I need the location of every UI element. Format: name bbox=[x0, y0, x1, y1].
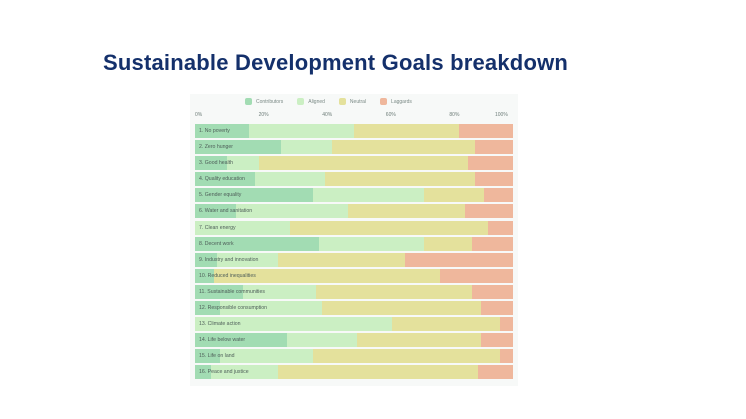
bar-segment-neutral[interactable] bbox=[278, 365, 478, 379]
legend-swatch-icon bbox=[339, 98, 346, 105]
legend-swatch-icon bbox=[245, 98, 252, 105]
axis-tick-40pct: 40% bbox=[322, 112, 332, 118]
bar-row[interactable]: 2. Zero hunger bbox=[195, 140, 513, 154]
bar-segment-aligned[interactable] bbox=[220, 349, 312, 363]
bar-segment-laggards[interactable] bbox=[472, 237, 513, 251]
bar-segment-neutral[interactable] bbox=[290, 221, 487, 235]
bar-segment-laggards[interactable] bbox=[440, 269, 513, 283]
legend-item-aligned[interactable]: Aligned bbox=[297, 98, 325, 105]
bar-segment-aligned[interactable] bbox=[249, 124, 354, 138]
bar-segment-neutral[interactable] bbox=[348, 204, 466, 218]
bar-segment-contributors[interactable] bbox=[195, 285, 243, 299]
bar-segment-neutral[interactable] bbox=[354, 124, 459, 138]
bar-segment-contributors[interactable] bbox=[195, 269, 214, 283]
legend-swatch-icon bbox=[297, 98, 304, 105]
bar-segment-laggards[interactable] bbox=[488, 221, 513, 235]
bar-segment-laggards[interactable] bbox=[475, 140, 513, 154]
slide-canvas: Sustainable Development Goals breakdown … bbox=[0, 0, 746, 419]
legend-swatch-icon bbox=[380, 98, 387, 105]
bar-segment-aligned[interactable] bbox=[217, 253, 277, 267]
bar-segment-neutral[interactable] bbox=[214, 269, 440, 283]
bar-segment-laggards[interactable] bbox=[478, 365, 513, 379]
bar-segment-laggards[interactable] bbox=[468, 156, 513, 170]
bar-segment-contributors[interactable] bbox=[195, 237, 319, 251]
bar-segment-neutral[interactable] bbox=[259, 156, 469, 170]
bar-segment-contributors[interactable] bbox=[195, 124, 249, 138]
bar-row[interactable]: 8. Decent work bbox=[195, 237, 513, 251]
bar-segment-neutral[interactable] bbox=[332, 140, 475, 154]
bar-row[interactable]: 1. No poverty bbox=[195, 124, 513, 138]
bar-row[interactable]: 14. Life below water bbox=[195, 333, 513, 347]
bar-segment-aligned[interactable] bbox=[211, 365, 278, 379]
bar-row[interactable]: 3. Good health bbox=[195, 156, 513, 170]
axis-tick-20pct: 20% bbox=[259, 112, 269, 118]
bar-segment-neutral[interactable] bbox=[313, 349, 501, 363]
bar-segment-aligned[interactable] bbox=[287, 333, 357, 347]
bar-segment-aligned[interactable] bbox=[236, 204, 347, 218]
bar-segment-neutral[interactable] bbox=[424, 237, 472, 251]
bar-segment-contributors[interactable] bbox=[195, 333, 287, 347]
legend-label: Neutral bbox=[350, 99, 366, 105]
bar-segment-neutral[interactable] bbox=[424, 188, 484, 202]
bar-segment-aligned[interactable] bbox=[319, 237, 424, 251]
bar-segment-aligned[interactable] bbox=[227, 156, 259, 170]
bar-segment-laggards[interactable] bbox=[405, 253, 513, 267]
bar-segment-aligned[interactable] bbox=[220, 301, 322, 315]
bar-segment-neutral[interactable] bbox=[278, 253, 405, 267]
bar-segment-laggards[interactable] bbox=[481, 301, 513, 315]
axis-tick-0pct: 0% bbox=[195, 112, 202, 118]
bar-segment-laggards[interactable] bbox=[465, 204, 513, 218]
axis-tick-80pct: 80% bbox=[449, 112, 459, 118]
bar-segment-aligned[interactable] bbox=[195, 317, 392, 331]
x-axis: 0%20%40%60%80%100% bbox=[195, 112, 513, 122]
bar-row[interactable]: 11. Sustainable communities bbox=[195, 285, 513, 299]
bar-row[interactable]: 12. Responsible consumption bbox=[195, 301, 513, 315]
bar-row[interactable]: 7. Clean energy bbox=[195, 221, 513, 235]
bar-segment-contributors[interactable] bbox=[195, 301, 220, 315]
bar-segment-laggards[interactable] bbox=[481, 333, 513, 347]
bar-segment-laggards[interactable] bbox=[475, 172, 513, 186]
bar-row[interactable]: 5. Gender equality bbox=[195, 188, 513, 202]
bar-segment-laggards[interactable] bbox=[500, 349, 513, 363]
chart-legend: ContributorsAlignedNeutralLaggards bbox=[245, 98, 412, 105]
axis-tick-60pct: 60% bbox=[386, 112, 396, 118]
legend-label: Aligned bbox=[308, 99, 325, 105]
bar-segment-aligned[interactable] bbox=[195, 221, 290, 235]
bar-row[interactable]: 4. Quality education bbox=[195, 172, 513, 186]
bar-segment-neutral[interactable] bbox=[357, 333, 481, 347]
bar-segment-neutral[interactable] bbox=[392, 317, 500, 331]
legend-item-neutral[interactable]: Neutral bbox=[339, 98, 366, 105]
legend-item-laggards[interactable]: Laggards bbox=[380, 98, 412, 105]
bar-segment-laggards[interactable] bbox=[500, 317, 513, 331]
bar-row[interactable]: 13. Climate action bbox=[195, 317, 513, 331]
legend-label: Contributors bbox=[256, 99, 283, 105]
bar-segment-contributors[interactable] bbox=[195, 156, 227, 170]
stacked-bar-chart: 1. No poverty2. Zero hunger3. Good healt… bbox=[195, 124, 513, 382]
bar-segment-contributors[interactable] bbox=[195, 204, 236, 218]
bar-segment-aligned[interactable] bbox=[313, 188, 424, 202]
bar-row[interactable]: 9. Industry and innovation bbox=[195, 253, 513, 267]
bar-segment-aligned[interactable] bbox=[243, 285, 316, 299]
bar-segment-laggards[interactable] bbox=[484, 188, 513, 202]
bar-segment-aligned[interactable] bbox=[255, 172, 325, 186]
legend-item-contributors[interactable]: Contributors bbox=[245, 98, 283, 105]
axis-tick-100pct: 100% bbox=[495, 112, 508, 118]
bar-segment-neutral[interactable] bbox=[325, 172, 474, 186]
bar-segment-laggards[interactable] bbox=[472, 285, 513, 299]
chart-panel: ContributorsAlignedNeutralLaggards 0%20%… bbox=[190, 94, 518, 386]
bar-segment-contributors[interactable] bbox=[195, 188, 313, 202]
bar-segment-contributors[interactable] bbox=[195, 253, 217, 267]
bar-segment-neutral[interactable] bbox=[322, 301, 481, 315]
bar-row[interactable]: 10. Reduced inequalities bbox=[195, 269, 513, 283]
bar-segment-contributors[interactable] bbox=[195, 140, 281, 154]
legend-label: Laggards bbox=[391, 99, 412, 105]
bar-segment-neutral[interactable] bbox=[316, 285, 472, 299]
bar-row[interactable]: 15. Life on land bbox=[195, 349, 513, 363]
page-title: Sustainable Development Goals breakdown bbox=[103, 50, 568, 76]
bar-row[interactable]: 6. Water and sanitation bbox=[195, 204, 513, 218]
bar-segment-contributors[interactable] bbox=[195, 349, 220, 363]
bar-segment-laggards[interactable] bbox=[459, 124, 513, 138]
bar-segment-contributors[interactable] bbox=[195, 172, 255, 186]
bar-row[interactable]: 16. Peace and justice bbox=[195, 365, 513, 379]
bar-segment-contributors[interactable] bbox=[195, 365, 211, 379]
bar-segment-aligned[interactable] bbox=[281, 140, 332, 154]
